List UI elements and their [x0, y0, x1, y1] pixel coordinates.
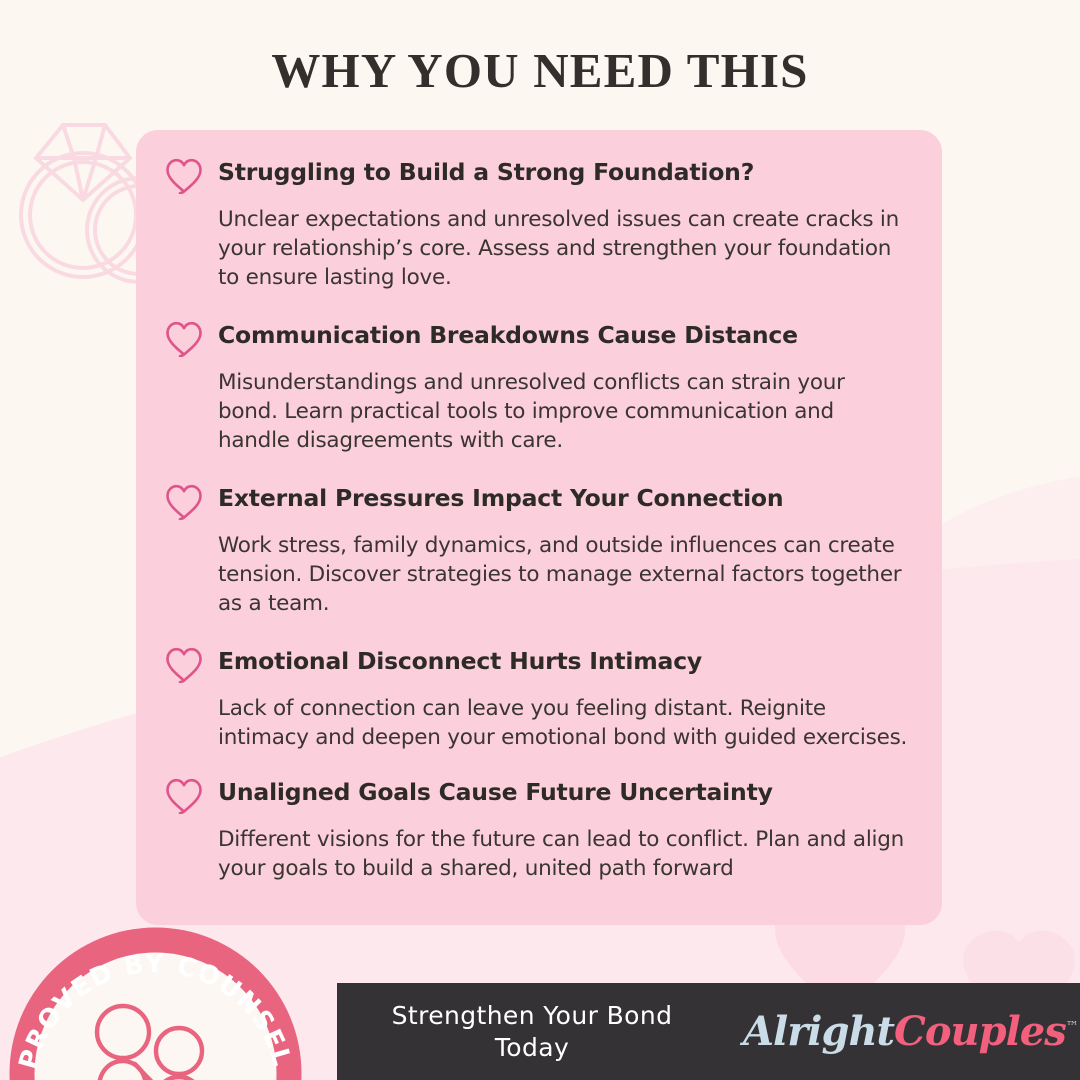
list-item: Unaligned Goals Cause Future Uncertainty…	[164, 774, 920, 883]
list-item-title: Struggling to Build a Strong Foundation?	[218, 154, 754, 187]
heart-outline-icon	[164, 319, 204, 359]
list-item: Struggling to Build a Strong Foundation?…	[164, 154, 920, 292]
list-item: Emotional Disconnect Hurts Intimacy Lack…	[164, 643, 920, 752]
spacer	[164, 752, 920, 774]
heart-outline-icon	[164, 776, 204, 816]
list-item-header: External Pressures Impact Your Connectio…	[164, 480, 920, 522]
poster-canvas: WHY YOU NEED THIS Struggling to Build a …	[0, 0, 1080, 1080]
logo-word-couples: Couples	[894, 1008, 1066, 1055]
heart-outline-icon	[164, 482, 204, 522]
footer-tagline-line2: Today	[337, 1032, 727, 1063]
page-title: WHY YOU NEED THIS	[0, 46, 1080, 95]
list-item-title: Communication Breakdowns Cause Distance	[218, 317, 798, 350]
spacer	[164, 618, 920, 643]
brand-logo[interactable]: AlrightCouples™	[743, 1012, 1080, 1052]
list-item-body: Work stress, family dynamics, and outsid…	[218, 531, 908, 618]
trademark-symbol: ™	[1066, 1019, 1079, 1034]
footer-bar: Strengthen Your Bond Today AlrightCouple…	[337, 983, 1080, 1080]
benefits-card: Struggling to Build a Strong Foundation?…	[136, 130, 942, 925]
list-item: Communication Breakdowns Cause Distance …	[164, 317, 920, 455]
heart-outline-icon	[164, 156, 204, 196]
list-item-body: Different visions for the future can lea…	[218, 825, 908, 883]
list-item-body: Lack of connection can leave you feeling…	[218, 694, 908, 752]
footer-tagline-line1: Strengthen Your Bond	[337, 1000, 727, 1031]
list-item-header: Emotional Disconnect Hurts Intimacy	[164, 643, 920, 685]
list-item-header: Communication Breakdowns Cause Distance	[164, 317, 920, 359]
list-item-title: Unaligned Goals Cause Future Uncertainty	[218, 774, 773, 807]
list-item-header: Unaligned Goals Cause Future Uncertainty	[164, 774, 920, 816]
list-item-title: Emotional Disconnect Hurts Intimacy	[218, 643, 702, 676]
list-item-header: Struggling to Build a Strong Foundation?	[164, 154, 920, 196]
benefits-list: Struggling to Build a Strong Foundation?…	[164, 154, 920, 883]
spacer	[164, 455, 920, 480]
heart-outline-icon	[164, 645, 204, 685]
spacer	[164, 292, 920, 317]
approved-by-counselor-badge: APPROVED BY COUNSELOR	[7, 925, 304, 1080]
list-item: External Pressures Impact Your Connectio…	[164, 480, 920, 618]
list-item-body: Misunderstandings and unresolved conflic…	[218, 368, 908, 455]
footer-tagline: Strengthen Your Bond Today	[337, 1000, 727, 1063]
list-item-title: External Pressures Impact Your Connectio…	[218, 480, 783, 513]
logo-word-alright: Alright	[743, 1008, 894, 1055]
list-item-body: Unclear expectations and unresolved issu…	[218, 205, 908, 292]
